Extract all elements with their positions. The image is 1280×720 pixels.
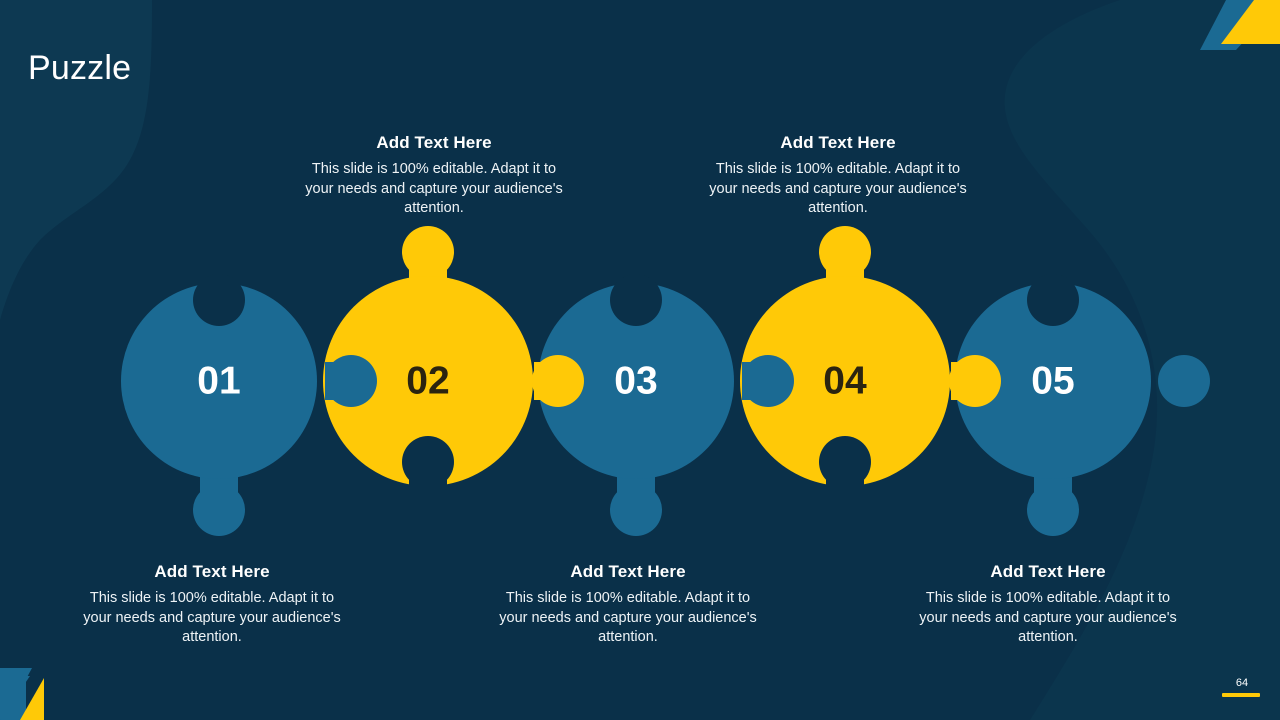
piece-05-top-notch-neck <box>1034 278 1072 308</box>
text-block-05-body: This slide is 100% editable. Adapt it to… <box>918 589 1178 647</box>
piece-05-number: 05 <box>1031 360 1074 403</box>
piece-04-left-notch-neck <box>742 362 772 400</box>
page-number-rule <box>1222 693 1260 697</box>
piece-01-number: 01 <box>197 360 240 403</box>
piece-05-right-tab <box>1158 355 1210 407</box>
text-block-04: Add Text Here This slide is 100% editabl… <box>708 133 968 218</box>
piece-02-bottom-notch-neck <box>409 462 447 492</box>
text-block-02: Add Text Here This slide is 100% editabl… <box>304 133 564 218</box>
text-block-01-title: Add Text Here <box>82 562 342 582</box>
piece-03-left-notch-neck <box>534 362 564 400</box>
piece-04-number: 04 <box>823 360 867 403</box>
text-block-04-title: Add Text Here <box>708 133 968 153</box>
piece-03-number: 03 <box>614 360 657 403</box>
piece-05-left-notch-neck <box>951 362 981 400</box>
text-block-03: Add Text Here This slide is 100% editabl… <box>498 562 758 647</box>
page-number-value: 64 <box>1222 678 1262 689</box>
text-block-05-title: Add Text Here <box>918 562 1178 582</box>
text-block-05: Add Text Here This slide is 100% editabl… <box>918 562 1178 647</box>
piece-02-left-notch-neck <box>325 362 355 400</box>
piece-02-number: 02 <box>406 360 449 403</box>
piece-01-top-notch-neck <box>200 278 238 308</box>
text-block-02-title: Add Text Here <box>304 133 564 153</box>
text-block-02-body: This slide is 100% editable. Adapt it to… <box>304 160 564 218</box>
text-block-04-body: This slide is 100% editable. Adapt it to… <box>708 160 968 218</box>
text-block-01-body: This slide is 100% editable. Adapt it to… <box>82 589 342 647</box>
text-block-03-title: Add Text Here <box>498 562 758 582</box>
puzzle-piece-05[interactable]: 05 <box>949 274 1210 536</box>
text-block-03-body: This slide is 100% editable. Adapt it to… <box>498 589 758 647</box>
piece-04-bottom-notch-neck <box>826 462 864 492</box>
piece-03-top-notch-neck <box>617 278 655 308</box>
page-number: 64 <box>1222 678 1262 697</box>
slide-canvas: Puzzle 01 <box>0 0 1280 720</box>
text-block-01: Add Text Here This slide is 100% editabl… <box>82 562 342 647</box>
